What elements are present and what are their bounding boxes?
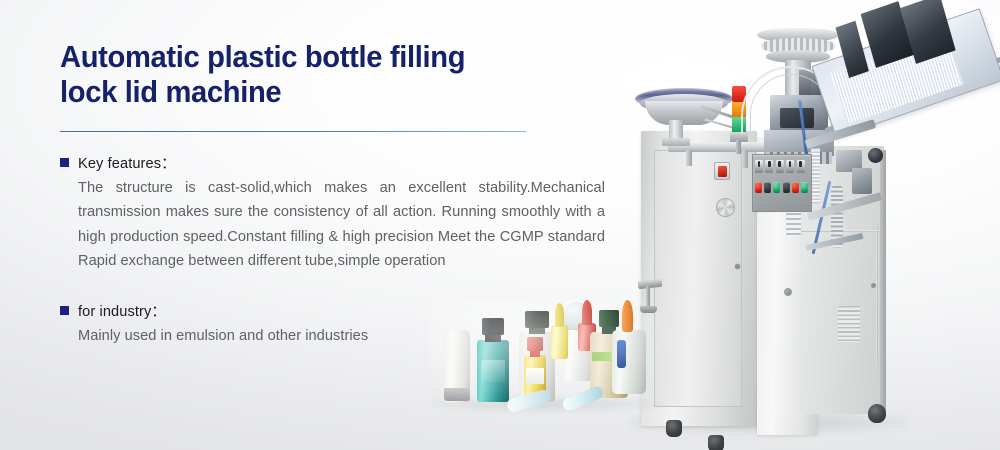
square-bullet-icon xyxy=(60,306,69,315)
glue-bottle-blue-label xyxy=(617,340,626,368)
yellow-label-bottle-cap xyxy=(527,337,543,351)
selector-switch-icon[interactable] xyxy=(797,160,805,173)
cabinet-right-edge xyxy=(880,150,886,412)
text-panel: Automatic plastic bottle filling lock li… xyxy=(60,40,605,110)
yellow-dropper-bottle-cap xyxy=(555,303,564,327)
key-features-heading: Key features： xyxy=(60,155,605,173)
ventilation-louvers xyxy=(838,306,860,342)
selector-switch-row[interactable] xyxy=(755,160,808,173)
leveling-foot-base xyxy=(640,306,657,313)
cabinet-front-lock-icon xyxy=(784,288,792,296)
adjustable-foot xyxy=(666,420,682,437)
key-features-body: The structure is cast-solid,which makes … xyxy=(60,176,605,273)
red-dropper-bottle-cap xyxy=(582,300,592,325)
caster-wheel xyxy=(868,404,886,423)
cabinet-left-lock-icon xyxy=(735,264,740,269)
key-features-section: Key features： The structure is cast-soli… xyxy=(60,155,605,273)
push-button-green-icon[interactable] xyxy=(801,182,808,193)
glue-bottle-cap xyxy=(622,300,633,332)
yellow-dropper-bottle xyxy=(551,325,568,359)
title-divider xyxy=(60,131,526,132)
frosted-lotion-bottle-cap xyxy=(525,311,549,328)
beige-lotion-bottle-cap xyxy=(599,310,619,327)
teal-toner-bottle-cap xyxy=(482,318,504,335)
key-features-label: Key features： xyxy=(78,155,176,173)
push-button-row[interactable] xyxy=(755,182,808,194)
push-button-dark-icon[interactable] xyxy=(783,182,790,193)
spring-column xyxy=(811,148,820,204)
filling-head-dark-module xyxy=(780,108,814,128)
support-post xyxy=(742,150,748,168)
selector-switch-icon[interactable] xyxy=(755,160,763,173)
magazine-roller xyxy=(868,148,883,163)
push-button-green-icon[interactable] xyxy=(773,182,780,193)
leveling-foot-stem xyxy=(646,286,650,308)
push-button-red-icon[interactable] xyxy=(755,182,762,193)
bowl-feeder-base xyxy=(662,138,690,146)
push-button-dark-icon[interactable] xyxy=(764,182,771,193)
support-post xyxy=(686,150,692,166)
signal-tower-post xyxy=(736,140,741,154)
product-banner: Automatic plastic bottle filling lock li… xyxy=(0,0,1000,450)
selector-switch-icon[interactable] xyxy=(776,160,784,173)
cabinet-left-door xyxy=(654,150,742,407)
selector-switch-icon[interactable] xyxy=(786,160,794,173)
push-button-red-icon[interactable] xyxy=(792,182,799,193)
page-title: Automatic plastic bottle filling lock li… xyxy=(60,40,580,110)
cosmetic-tube-base xyxy=(444,388,470,401)
adjustable-foot xyxy=(708,435,724,450)
square-bullet-icon xyxy=(60,158,69,167)
cooling-fan-icon xyxy=(716,198,735,217)
selector-switch-icon[interactable] xyxy=(765,160,773,173)
frame-rail-vertical xyxy=(876,225,878,365)
teal-toner-bottle-label xyxy=(481,360,505,382)
emergency-stop-button-icon[interactable] xyxy=(714,162,730,180)
yellow-label-bottle-label xyxy=(526,368,544,384)
transfer-mechanism xyxy=(852,168,872,194)
for-industry-heading: for industry： xyxy=(60,303,605,321)
for-industry-label: for industry： xyxy=(78,303,166,321)
